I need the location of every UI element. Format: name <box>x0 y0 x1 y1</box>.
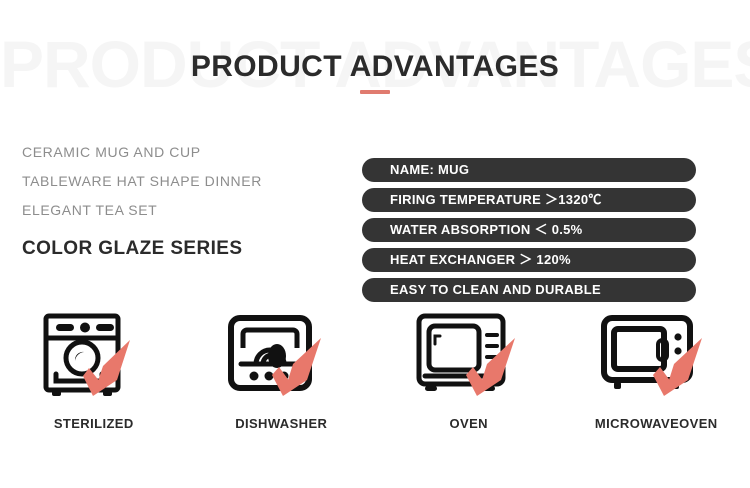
spec-pill: EASY TO CLEAN AND DURABLE <box>362 278 696 302</box>
spec-list: NAME: MUG FIRING TEMPERATURE ＞1320℃ WATE… <box>362 158 696 308</box>
feature-label: OVEN <box>450 416 488 432</box>
feature-label: STERILIZED <box>54 416 134 432</box>
feature-oven: OVEN <box>375 304 563 454</box>
feature-label: DISHWASHER <box>235 416 327 432</box>
intro-line: ELEGANT TEA SET <box>22 196 342 225</box>
page-header: PRODUCT ADVANTAGES PRODUCT ADVANTAGES <box>0 28 750 108</box>
sterilizer-icon <box>34 304 154 402</box>
spec-pill: NAME: MUG <box>362 158 696 182</box>
spec-pill: WATER ABSORPTION ＜ 0.5% <box>362 218 696 242</box>
title-underline <box>360 90 390 94</box>
feature-sterilized: STERILIZED <box>0 304 188 454</box>
spec-pill: HEAT EXCHANGER ＞ 120% <box>362 248 696 272</box>
intro-line: TABLEWARE HAT SHAPE DINNER <box>22 167 342 196</box>
feature-label: MICROWAVEOVEN <box>595 416 718 432</box>
spec-pill-label: WATER ABSORPTION ＜ 0.5% <box>390 218 583 242</box>
spec-pill: FIRING TEMPERATURE ＞1320℃ <box>362 188 696 212</box>
spec-pill-label: NAME: MUG <box>390 158 469 182</box>
intro-line: CERAMIC MUG AND CUP <box>22 138 342 167</box>
feature-microwave-oven: MICROWAVEOVEN <box>563 304 750 454</box>
series-title: COLOR GLAZE SERIES <box>22 237 342 261</box>
oven-icon <box>409 304 529 402</box>
feature-icon-row: STERILIZED <box>0 304 750 454</box>
spec-pill-label: HEAT EXCHANGER ＞ 120% <box>390 248 571 272</box>
intro-text-block: CERAMIC MUG AND CUP TABLEWARE HAT SHAPE … <box>22 138 342 261</box>
dishwasher-icon <box>221 304 341 402</box>
page-title: PRODUCT ADVANTAGES <box>0 50 750 84</box>
microwave-oven-icon <box>596 304 716 402</box>
spec-pill-label: FIRING TEMPERATURE ＞1320℃ <box>390 188 602 212</box>
feature-dishwasher: DISHWASHER <box>188 304 376 454</box>
spec-pill-label: EASY TO CLEAN AND DURABLE <box>390 278 601 302</box>
check-mark-icon <box>664 338 702 396</box>
product-advantages-page: PRODUCT ADVANTAGES PRODUCT ADVANTAGES CE… <box>0 0 750 488</box>
